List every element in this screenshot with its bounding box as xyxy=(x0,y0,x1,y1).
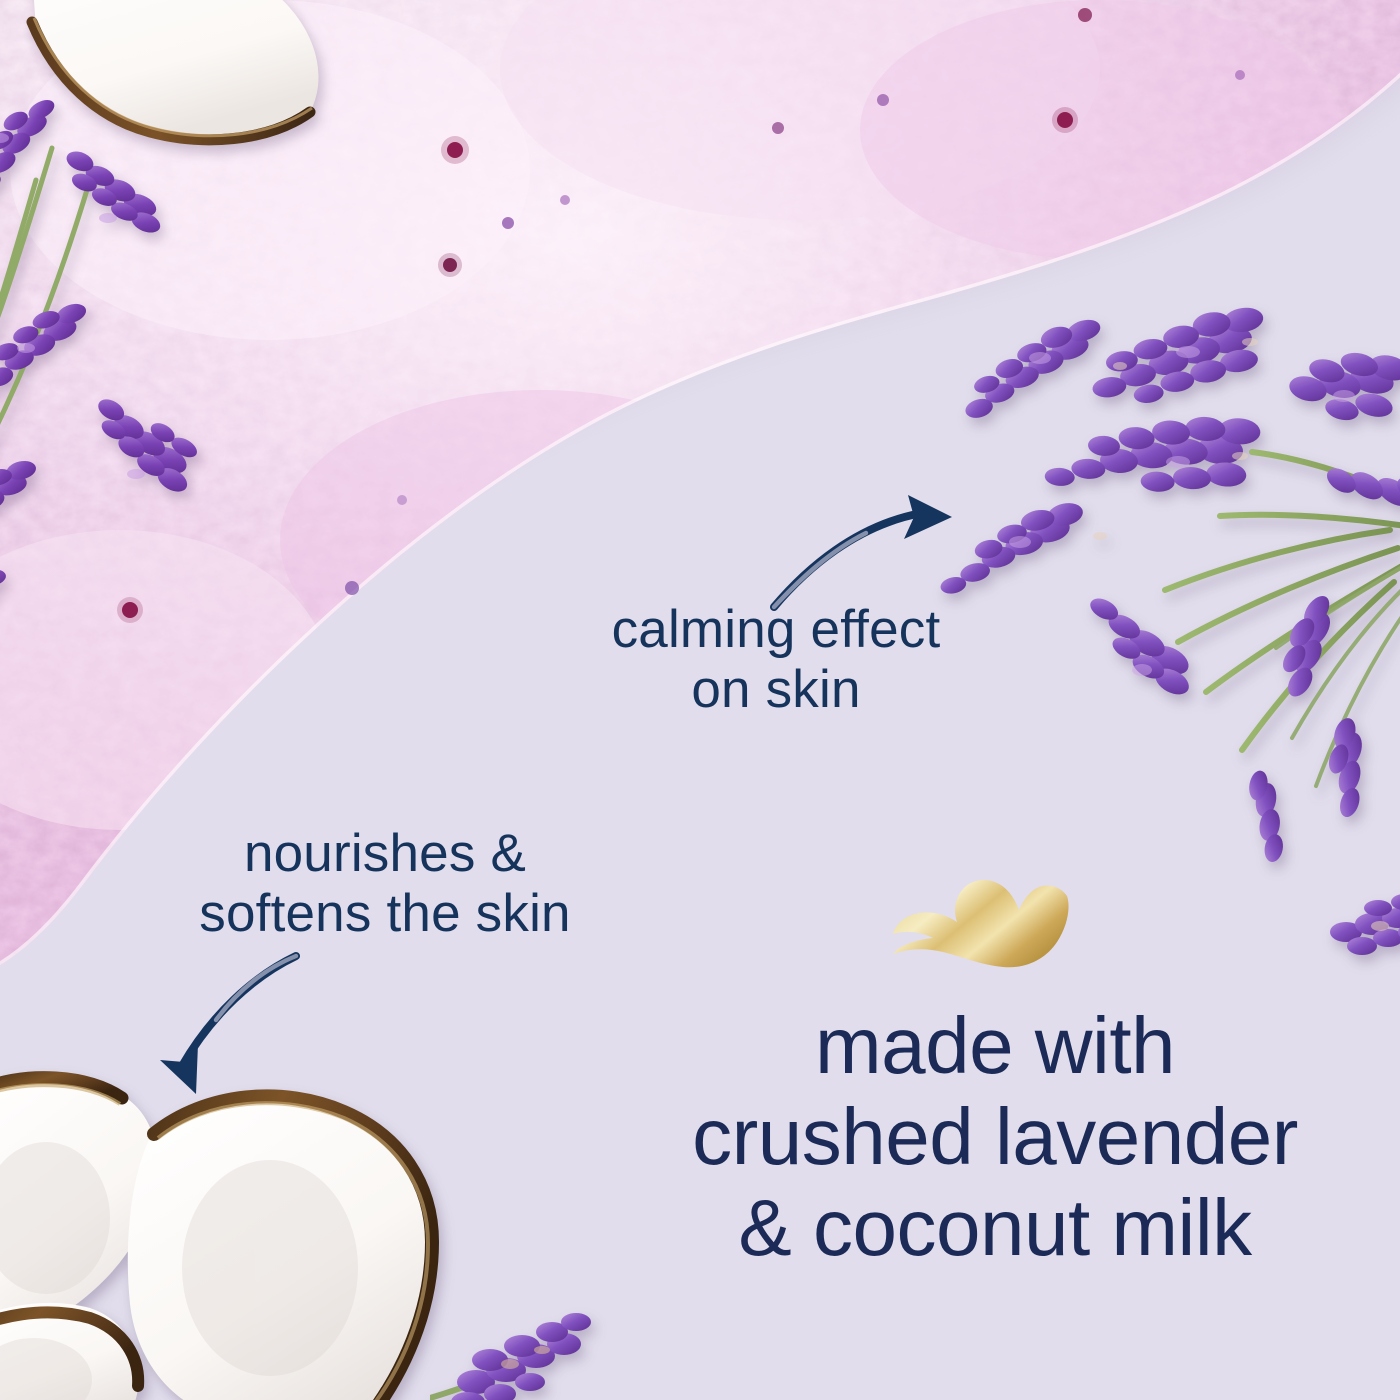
page-headline: made with crushed lavender & coconut mil… xyxy=(600,1000,1390,1274)
product-marketing-image: calming effect on skin nourishes & softe… xyxy=(0,0,1400,1400)
lavender-sprigs-right xyxy=(920,230,1400,870)
callout-nourishes-softens: nourishes & softens the skin xyxy=(150,824,620,945)
curved-arrow-up-right-icon xyxy=(770,495,990,615)
lavender-sprig-right-edge xyxy=(1316,890,1400,980)
dove-bird-icon xyxy=(893,872,1073,972)
callout-calming-effect: calming effect on skin xyxy=(556,600,996,721)
coconut-piece-top-left xyxy=(10,0,350,180)
coconut-pieces-bottom-left xyxy=(0,1068,470,1400)
curved-arrow-down-left-icon xyxy=(150,950,330,1100)
